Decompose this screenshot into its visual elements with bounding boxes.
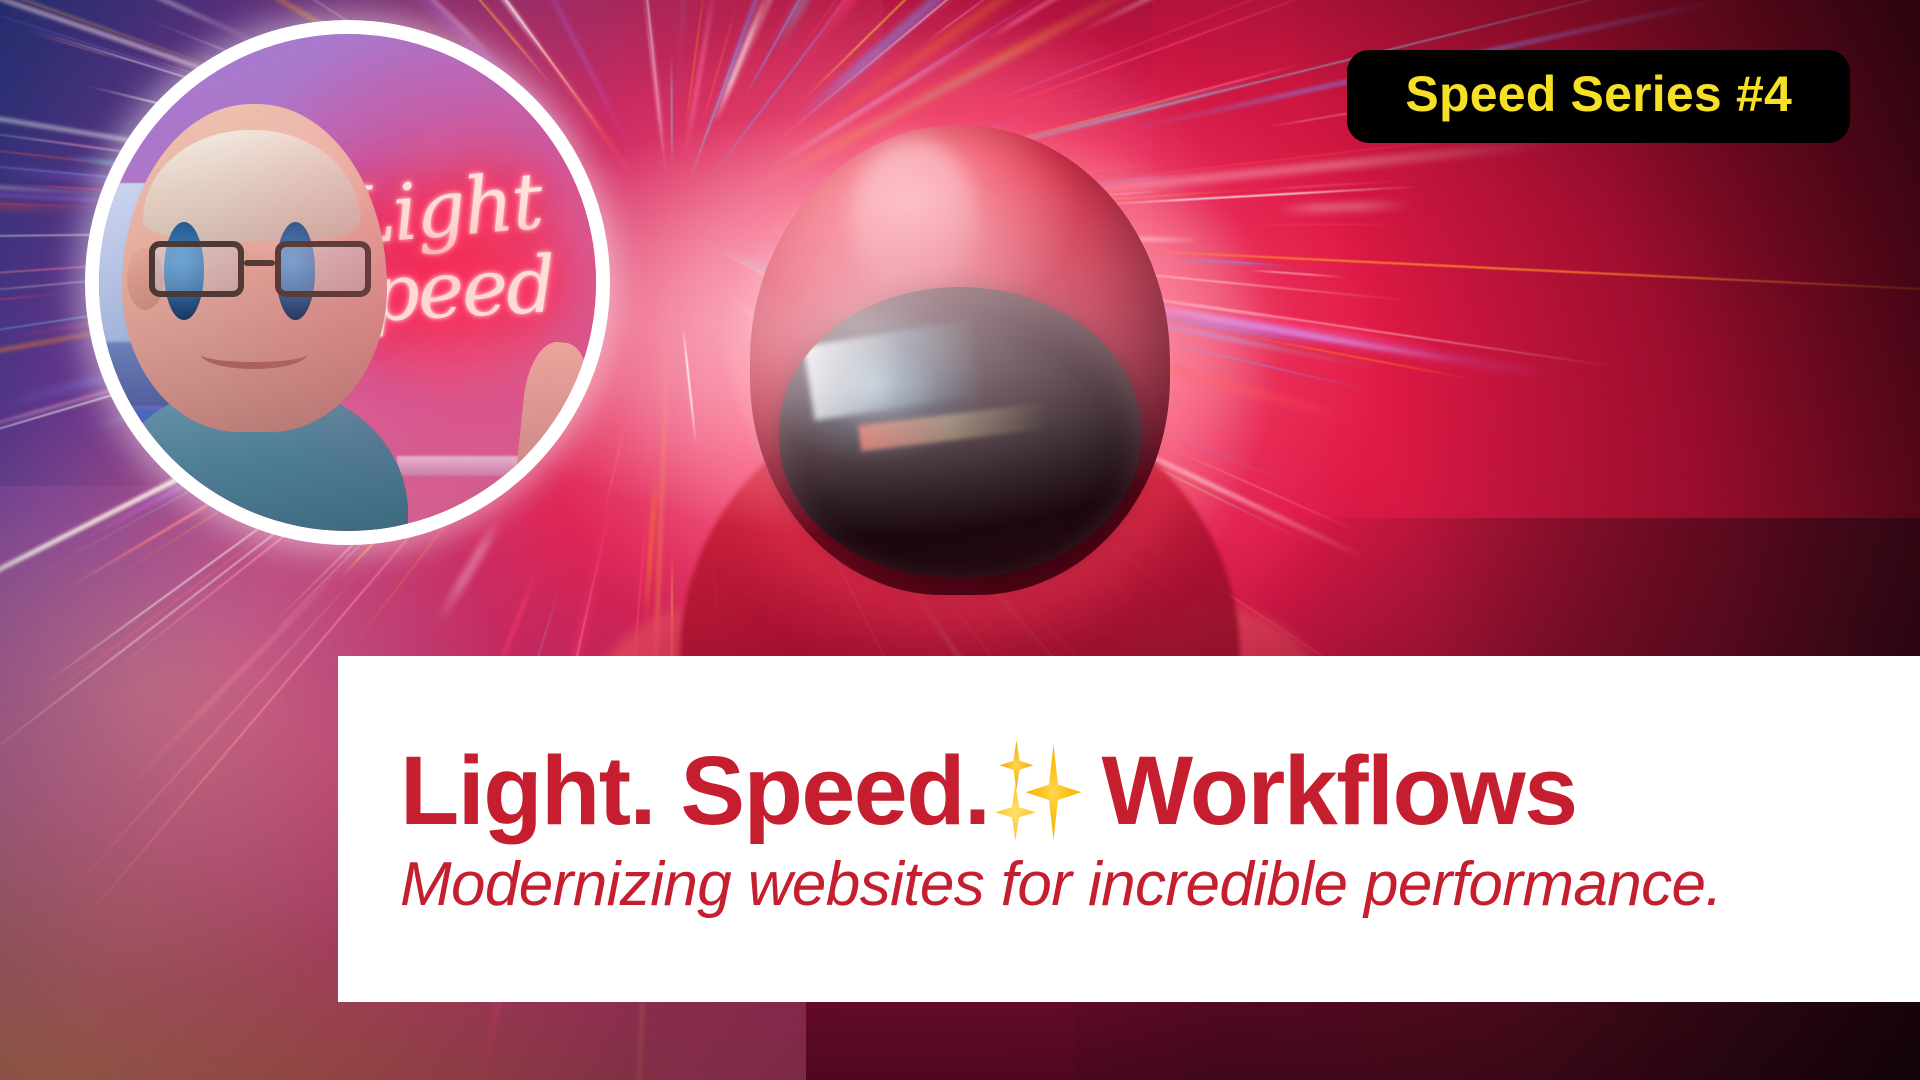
series-badge: Speed Series #4 [1347, 50, 1850, 143]
page-subtitle: Modernizing websites for incredible perf… [400, 850, 1920, 919]
title-part-one: Light. Speed. [400, 742, 989, 839]
title-part-two: Workflows [1101, 742, 1576, 839]
video-thumbnail: Light Speed [0, 0, 1920, 1080]
sparkle-small-top [999, 740, 1033, 790]
presenter-avatar-photo: Light Speed [99, 34, 596, 531]
series-badge-label: Speed Series #4 [1405, 68, 1792, 121]
title-card: Light. Speed. Workflows Modernizing webs… [338, 656, 1920, 1002]
page-title: Light. Speed. Workflows [400, 738, 1920, 842]
sparkles-emoji [995, 738, 1099, 842]
avatar-color-tint [99, 34, 596, 531]
sparkle-large [1025, 744, 1081, 840]
presenter-avatar: Light Speed [85, 20, 610, 545]
